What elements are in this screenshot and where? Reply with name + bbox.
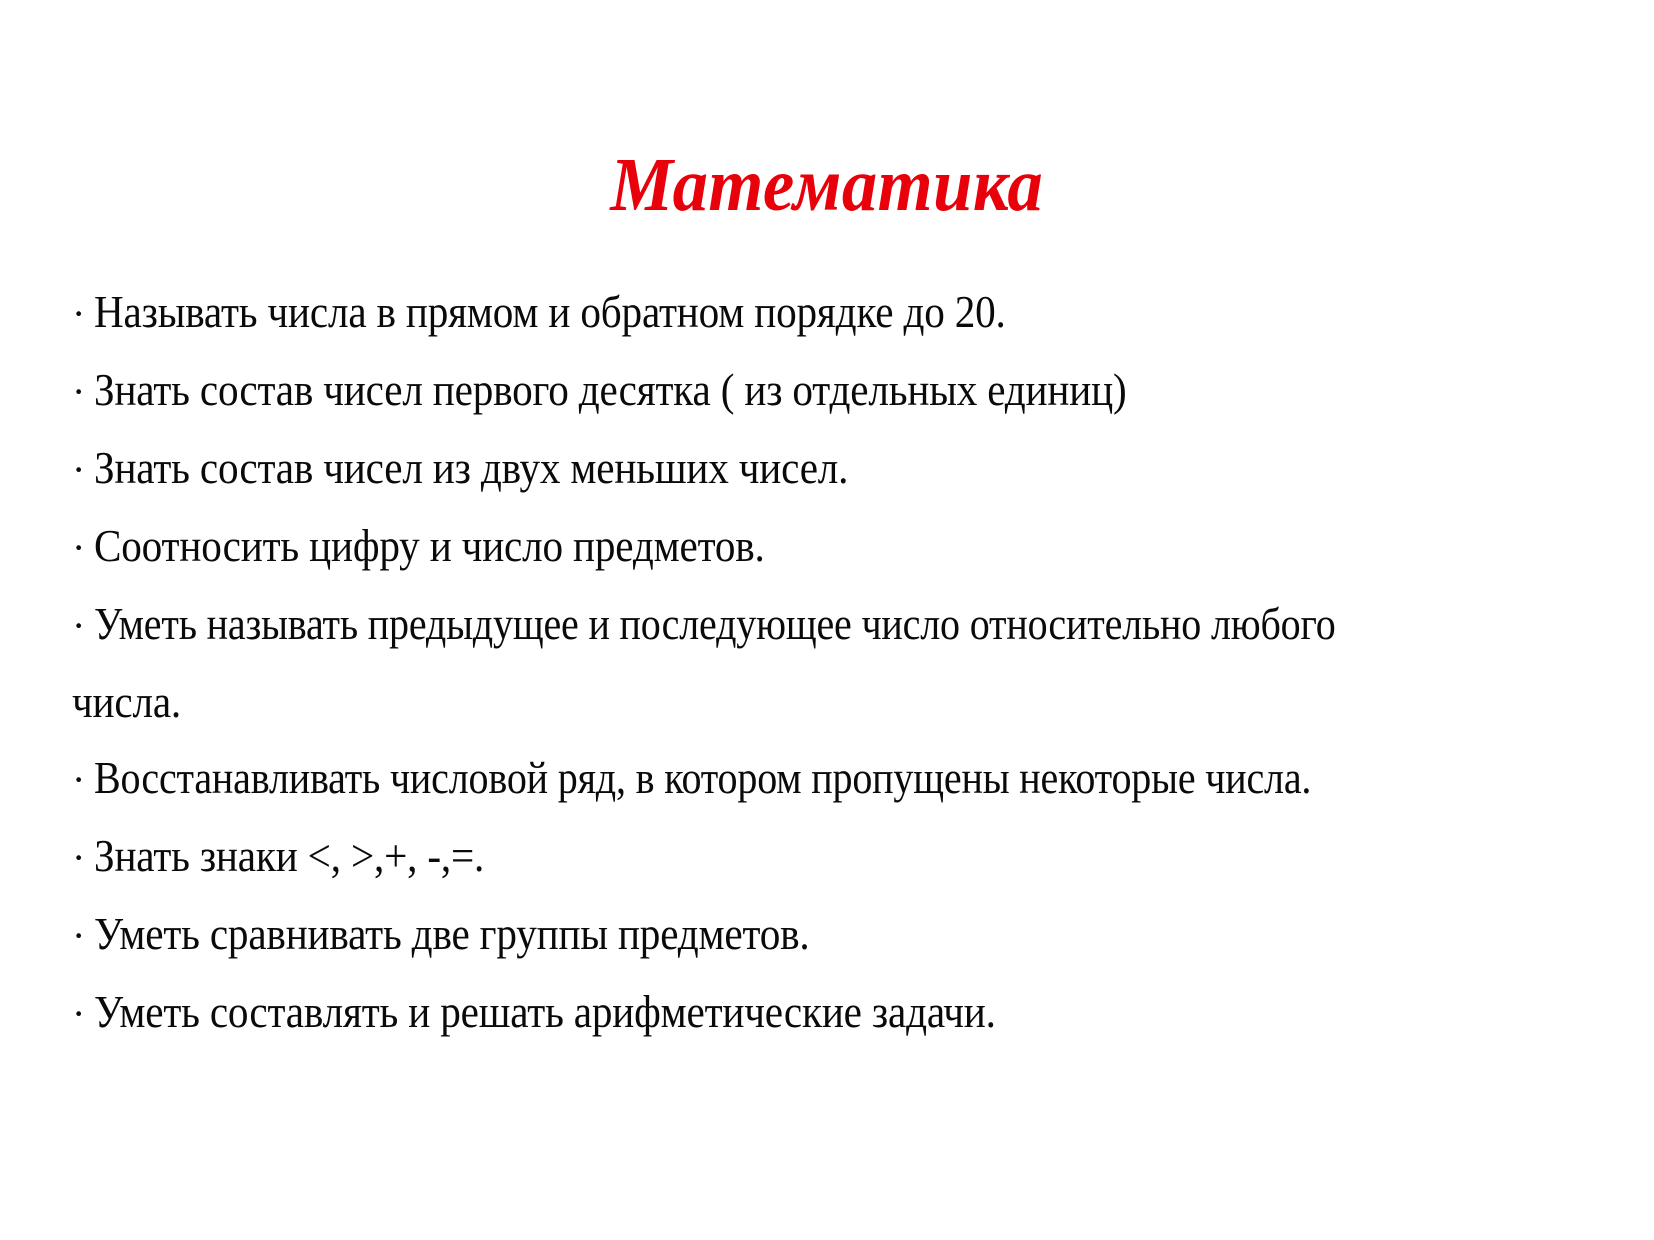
list-item-text: Уметь сравнивать две группы предметов. [94, 896, 810, 972]
bullet-marker: · [72, 276, 94, 352]
list-item: ·Восстанавливать числовой ряд, в котором… [72, 740, 1592, 818]
list-item: ·Соотносить цифру и число предметов. [72, 508, 1592, 586]
list-item-text: Уметь называть предыдущее и последующее … [94, 586, 1336, 662]
page-title: Математика [611, 147, 1044, 223]
bullet-marker: · [72, 898, 94, 974]
list-item-text: Знать состав чисел из двух меньших чисел… [94, 430, 848, 506]
bullet-marker: · [72, 742, 94, 818]
list-item-text: числа. [72, 664, 181, 740]
list-item-text: Знать знаки <, >,+, -,=. [94, 818, 484, 894]
slide-canvas: Математика ·Называть числа в прямом и об… [0, 0, 1654, 1240]
list-item: ·Уметь называть предыдущее и последующее… [72, 586, 1592, 664]
bullet-marker: · [72, 976, 94, 1052]
list-item-text: Соотносить цифру и число предметов. [94, 508, 765, 584]
bullet-marker: · [72, 354, 94, 430]
list-item-continuation: числа. [72, 664, 1592, 740]
list-item: ·Знать знаки <, >,+, -,=. [72, 818, 1592, 896]
bullet-marker: · [72, 820, 94, 896]
bullet-list: ·Называть числа в прямом и обратном поря… [72, 274, 1592, 1052]
list-item: ·Уметь составлять и решать арифметически… [72, 974, 1592, 1052]
bullet-marker: · [72, 510, 94, 586]
list-item: ·Знать состав чисел из двух меньших чисе… [72, 430, 1592, 508]
list-item: ·Знать состав чисел первого десятка ( из… [72, 352, 1592, 430]
list-item-text: Знать состав чисел первого десятка ( из … [94, 352, 1126, 428]
list-item-text: Уметь составлять и решать арифметические… [94, 974, 996, 1050]
bullet-marker: · [72, 432, 94, 508]
list-item: ·Уметь сравнивать две группы предметов. [72, 896, 1592, 974]
list-item-text: Восстанавливать числовой ряд, в котором … [94, 740, 1311, 816]
bullet-marker: · [72, 588, 94, 664]
title-area: Математика [0, 96, 1654, 274]
list-item: ·Называть числа в прямом и обратном поря… [72, 274, 1592, 352]
list-item-text: Называть числа в прямом и обратном поряд… [94, 274, 1006, 350]
